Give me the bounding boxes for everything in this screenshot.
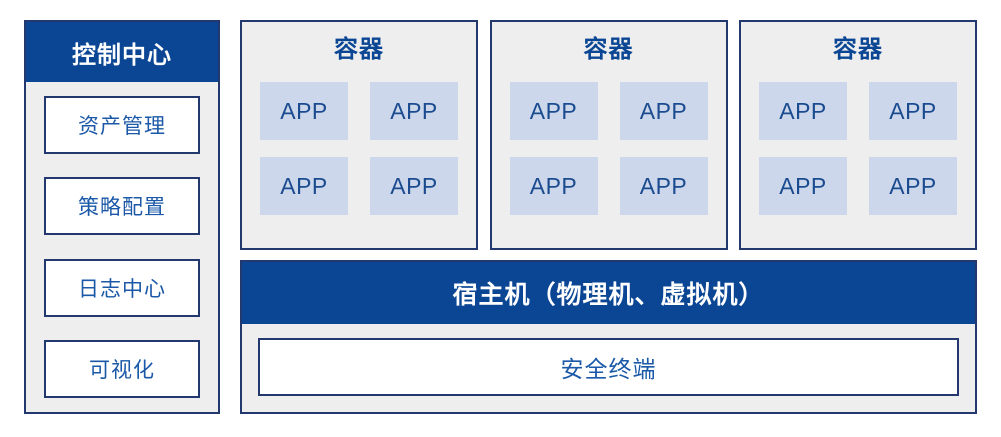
architecture-diagram: 控制中心 资产管理 策略配置 日志中心 可视化 容器 APP: [0, 0, 1001, 437]
control-item-visualization[interactable]: 可视化: [44, 340, 200, 398]
app-label: APP: [779, 98, 827, 125]
host-machine-body: 安全终端: [242, 324, 975, 412]
app-label: APP: [640, 173, 688, 200]
app-label: APP: [390, 98, 438, 125]
app-label: APP: [640, 98, 688, 125]
app-box[interactable]: APP: [620, 157, 708, 215]
app-label: APP: [390, 173, 438, 200]
control-item-label: 可视化: [89, 354, 155, 384]
container-title: 容器: [833, 38, 883, 62]
control-item-log-center[interactable]: 日志中心: [44, 259, 200, 317]
container-panel: 容器 APP APP APP APP: [739, 20, 977, 250]
app-box[interactable]: APP: [510, 82, 598, 140]
control-item-policy-configuration[interactable]: 策略配置: [44, 177, 200, 235]
container-row: 容器 APP APP APP APP 容器 APP: [240, 20, 977, 250]
control-center-item-list: 资产管理 策略配置 日志中心 可视化: [26, 82, 218, 412]
container-panel: 容器 APP APP APP APP: [490, 20, 728, 250]
app-label: APP: [530, 173, 578, 200]
app-grid: APP APP APP APP: [510, 82, 708, 215]
container-panel: 容器 APP APP APP APP: [240, 20, 478, 250]
app-box[interactable]: APP: [370, 157, 458, 215]
app-label: APP: [889, 98, 937, 125]
app-box[interactable]: APP: [869, 157, 957, 215]
app-box[interactable]: APP: [260, 82, 348, 140]
app-label: APP: [779, 173, 827, 200]
app-grid: APP APP APP APP: [260, 82, 458, 215]
app-box[interactable]: APP: [759, 82, 847, 140]
app-box[interactable]: APP: [759, 157, 847, 215]
app-box[interactable]: APP: [620, 82, 708, 140]
app-grid: APP APP APP APP: [759, 82, 957, 215]
container-title: 容器: [334, 38, 384, 62]
control-item-label: 策略配置: [78, 191, 166, 221]
container-title: 容器: [584, 38, 634, 62]
control-item-label: 资产管理: [78, 110, 166, 140]
app-label: APP: [530, 98, 578, 125]
app-label: APP: [280, 98, 328, 125]
security-terminal-box[interactable]: 安全终端: [258, 338, 959, 396]
control-item-label: 日志中心: [78, 273, 166, 303]
app-label: APP: [889, 173, 937, 200]
host-machine-panel: 宿主机（物理机、虚拟机） 安全终端: [240, 260, 977, 414]
app-box[interactable]: APP: [260, 157, 348, 215]
app-box[interactable]: APP: [869, 82, 957, 140]
app-label: APP: [280, 173, 328, 200]
control-center-header: 控制中心: [26, 22, 218, 82]
control-item-asset-management[interactable]: 资产管理: [44, 96, 200, 154]
app-box[interactable]: APP: [370, 82, 458, 140]
control-center-panel: 控制中心 资产管理 策略配置 日志中心 可视化: [24, 20, 220, 414]
security-terminal-label: 安全终端: [561, 350, 657, 384]
app-box[interactable]: APP: [510, 157, 598, 215]
host-machine-header: 宿主机（物理机、虚拟机）: [242, 262, 975, 324]
